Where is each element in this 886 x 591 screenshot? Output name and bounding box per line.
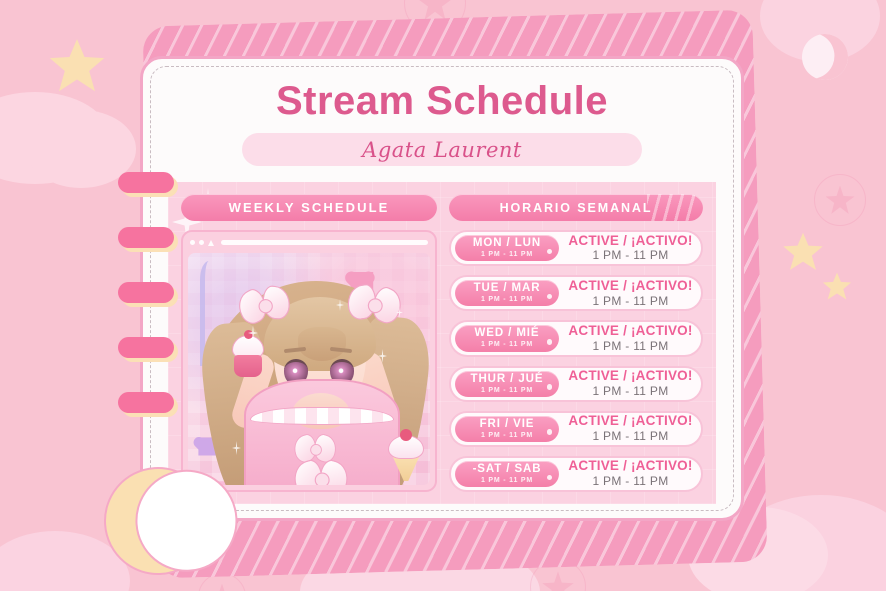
- day-pill[interactable]: MON / LUN 1 PM - 11 PM: [455, 235, 559, 261]
- day-label: FRI / VIE: [480, 418, 535, 430]
- page-title: Stream Schedule: [163, 79, 721, 123]
- schedule-graphic: Stream Schedule Agata Laurent WEEKLY SCH…: [0, 0, 886, 591]
- day-time-label: 1 PM - 11 PM: [481, 386, 533, 395]
- status-cell: ACTIVE / ¡ACTIVO! 1 PM - 11 PM: [565, 324, 696, 353]
- day-label: -SAT / SAB: [473, 463, 542, 475]
- status-time: 1 PM - 11 PM: [565, 385, 696, 398]
- table-row[interactable]: THUR / JUÉ 1 PM - 11 PM ACTIVE / ¡ACTIVO…: [449, 366, 703, 402]
- status-badge: ACTIVE / ¡ACTIVO!: [565, 369, 696, 384]
- cupcake-icon: [386, 435, 426, 481]
- status-cell: ACTIVE / ¡ACTIVO! 1 PM - 11 PM: [565, 414, 696, 443]
- day-label: WED / MIÉ: [475, 327, 540, 339]
- browser-title-bar: [188, 237, 430, 248]
- table-row[interactable]: -SAT / SAB 1 PM - 11 PM ACTIVE / ¡ACTIVO…: [449, 456, 703, 492]
- status-badge: ACTIVE / ¡ACTIVO!: [565, 459, 696, 474]
- status-time: 1 PM - 11 PM: [565, 430, 696, 443]
- status-dot-icon: [547, 429, 553, 435]
- moon-icon: [795, 27, 855, 87]
- heading-weekly-schedule: WEEKLY SCHEDULE: [181, 194, 437, 221]
- status-time: 1 PM - 11 PM: [565, 475, 696, 488]
- day-time-label: 1 PM - 11 PM: [481, 340, 533, 349]
- stripe-decoration: [647, 194, 695, 221]
- status-badge: ACTIVE / ¡ACTIVO!: [565, 414, 696, 429]
- table-row[interactable]: TUE / MAR 1 PM - 11 PM ACTIVE / ¡ACTIVO!…: [449, 275, 703, 311]
- schedule-panel: WEEKLY SCHEDULE: [168, 182, 716, 504]
- status-dot-icon: [547, 249, 553, 255]
- heading-weekly-schedule-label: WEEKLY SCHEDULE: [229, 200, 390, 215]
- binder-tab[interactable]: [118, 282, 174, 303]
- status-cell: ACTIVE / ¡ACTIVO! 1 PM - 11 PM: [565, 369, 696, 398]
- streamer-name: Agata Laurent: [362, 138, 522, 162]
- day-time-label: 1 PM - 11 PM: [481, 476, 533, 485]
- dress-frill: [250, 407, 394, 425]
- artwork-column: WEEKLY SCHEDULE: [181, 194, 437, 492]
- star-icon: [782, 232, 824, 272]
- schedule-column: HORARIO SEMANAL MON / LUN 1 PM - 11 PM A…: [449, 194, 703, 492]
- heading-horario-semanal-label: HORARIO SEMANAL: [500, 201, 653, 215]
- cloud-icon: [760, 0, 880, 62]
- binder-tab[interactable]: [118, 172, 174, 193]
- anime-character: [188, 253, 430, 485]
- heading-horario-semanal: HORARIO SEMANAL: [449, 194, 703, 221]
- status-cell: ACTIVE / ¡ACTIVO! 1 PM - 11 PM: [565, 234, 696, 263]
- streamer-name-pill: Agata Laurent: [242, 133, 642, 166]
- status-badge: ACTIVE / ¡ACTIVO!: [565, 279, 696, 294]
- star-icon: [822, 272, 852, 301]
- day-time-label: 1 PM - 11 PM: [481, 431, 533, 440]
- address-bar[interactable]: [221, 240, 428, 245]
- character-illustration: [188, 253, 430, 485]
- day-pill[interactable]: -SAT / SAB 1 PM - 11 PM: [455, 461, 559, 487]
- day-time-label: 1 PM - 11 PM: [481, 295, 533, 304]
- table-row[interactable]: MON / LUN 1 PM - 11 PM ACTIVE / ¡ACTIVO!…: [449, 230, 703, 266]
- window-dot-icon: [199, 240, 204, 245]
- day-label: THUR / JUÉ: [471, 373, 544, 385]
- binder-tab[interactable]: [118, 227, 174, 248]
- window-dot-icon: [190, 240, 195, 245]
- day-pill[interactable]: TUE / MAR 1 PM - 11 PM: [455, 280, 559, 306]
- table-row[interactable]: FRI / VIE 1 PM - 11 PM ACTIVE / ¡ACTIVO!…: [449, 411, 703, 447]
- star-watermark-icon: [814, 174, 866, 226]
- status-time: 1 PM - 11 PM: [565, 340, 696, 353]
- day-label: TUE / MAR: [474, 282, 541, 294]
- status-time: 1 PM - 11 PM: [565, 295, 696, 308]
- table-row[interactable]: WED / MIÉ 1 PM - 11 PM ACTIVE / ¡ACTIVO!…: [449, 320, 703, 356]
- status-cell: ACTIVE / ¡ACTIVO! 1 PM - 11 PM: [565, 279, 696, 308]
- status-badge: ACTIVE / ¡ACTIVO!: [565, 324, 696, 339]
- schedule-card: Stream Schedule Agata Laurent WEEKLY SCH…: [140, 56, 744, 521]
- status-dot-icon: [547, 294, 553, 300]
- status-dot-icon: [547, 339, 553, 345]
- day-time-label: 1 PM - 11 PM: [481, 250, 533, 259]
- day-pill[interactable]: WED / MIÉ 1 PM - 11 PM: [455, 325, 559, 351]
- status-time: 1 PM - 11 PM: [565, 249, 696, 262]
- binder-tab[interactable]: [118, 337, 174, 358]
- day-pill[interactable]: THUR / JUÉ 1 PM - 11 PM: [455, 371, 559, 397]
- star-icon: [48, 38, 106, 94]
- status-cell: ACTIVE / ¡ACTIVO! 1 PM - 11 PM: [565, 459, 696, 488]
- binder-tab[interactable]: [118, 392, 174, 413]
- window-triangle-icon: [208, 240, 214, 246]
- cloud-icon: [0, 92, 110, 184]
- status-dot-icon: [547, 475, 553, 481]
- day-label: MON / LUN: [473, 237, 541, 249]
- day-pill[interactable]: FRI / VIE 1 PM - 11 PM: [455, 416, 559, 442]
- status-badge: ACTIVE / ¡ACTIVO!: [565, 234, 696, 249]
- browser-frame: [181, 230, 437, 492]
- status-dot-icon: [547, 384, 553, 390]
- cupcake-icon: [230, 335, 266, 377]
